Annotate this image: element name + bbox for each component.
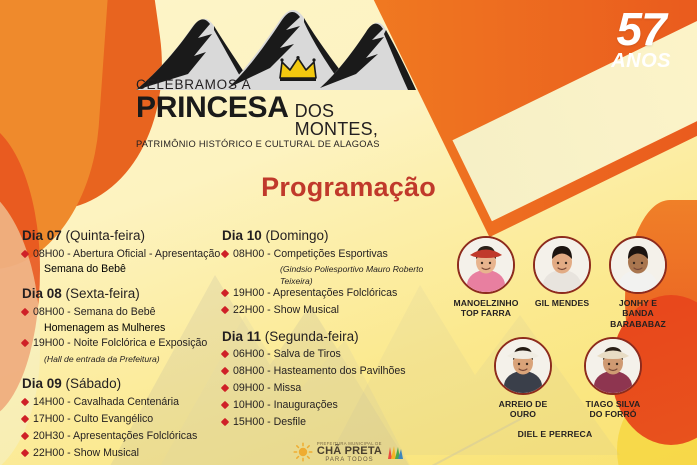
- schedule-column-1: Dia 07 (Quinta-feira)08H00 - Abertura Of…: [22, 228, 222, 465]
- day-number: Dia 07: [22, 228, 62, 243]
- artist-name: ARREIO DEOURO: [489, 399, 557, 420]
- event-time-and-title: 08H00 - Abertura Oficial - Apresentação: [33, 248, 220, 260]
- event-time-and-title: 15H00 - Desfile: [233, 416, 306, 428]
- artist-card: ARREIO DEOURO: [489, 337, 557, 420]
- day-weekday: (Segunda-feira): [261, 329, 359, 344]
- day-weekday: (Quinta-feira): [62, 228, 145, 243]
- schedule-event: 19H00 - Apresentações Folclóricas: [222, 287, 452, 301]
- bullet-diamond-icon: [21, 249, 29, 257]
- day-weekday: (Sábado): [62, 376, 121, 391]
- bullet-diamond-icon: [21, 397, 29, 405]
- schedule-event: 08H00 - Abertura Oficial - Apresentação: [22, 248, 222, 262]
- event-text: 06H00 - Salva de Tiros: [233, 348, 452, 362]
- anniversary-number: 57: [611, 8, 671, 50]
- schedule-event: 08H00 - Competições Esportivas: [222, 248, 452, 262]
- event-text: 10H00 - Inaugurações: [233, 399, 452, 413]
- schedule-event: 17H00 - Culto Evangélico: [22, 413, 222, 427]
- event-time-and-title: 20H30 - Apresentações Folclóricas: [33, 430, 197, 442]
- event-text: 14H00 - Cavalhada Centenária: [33, 396, 222, 410]
- bullet-diamond-icon: [21, 414, 29, 422]
- programacao-title: Programação: [0, 172, 697, 203]
- artist-photo: [533, 236, 591, 294]
- event-venue: (Gindsio Poliesportivo Mauro Roberto Tei…: [222, 264, 452, 286]
- poster-header: CELEBRAMOS A PRINCESA DOS MONTES, PATRIM…: [0, 0, 697, 150]
- event-poster: CELEBRAMOS A PRINCESA DOS MONTES, PATRIM…: [0, 0, 697, 465]
- bullet-diamond-icon: [221, 289, 229, 297]
- schedule-event: 08H00 - Hasteamento dos Pavilhões: [222, 365, 452, 379]
- artists-row-1: MANOELZINHOTOP FARRAGIL MENDESJONHY E BA…: [452, 236, 684, 329]
- bullet-diamond-icon: [221, 306, 229, 314]
- event-time-and-title: 08H00 - Semana do Bebê: [33, 306, 156, 318]
- colorful-fan-icon: [386, 444, 404, 460]
- day-number: Dia 11: [222, 329, 261, 344]
- day-block: Dia 07 (Quinta-feira)08H00 - Abertura Of…: [22, 228, 222, 275]
- event-text: 08H00 - Semana do Bebê: [33, 306, 222, 320]
- artist-photo: [609, 236, 667, 294]
- event-time-and-title: 08H00 - Competições Esportivas: [233, 248, 388, 260]
- event-text: 15H00 - Desfile: [233, 416, 452, 430]
- footer-city-logo: PREFEITURA MUNICIPAL DE CHÃ PRETA PARA T…: [0, 442, 697, 463]
- day-heading: Dia 11 (Segunda-feira): [222, 329, 452, 345]
- event-text: 08H00 - Hasteamento dos Pavilhões: [233, 365, 452, 379]
- event-venue: (Hall de entrada da Prefeitura): [22, 354, 222, 365]
- artist-photo: [494, 337, 552, 395]
- logo-line-celebramos: CELEBRAMOS A: [136, 78, 416, 92]
- event-text: 08H00 - Competições Esportivas: [233, 248, 452, 262]
- schedule-event: 14H00 - Cavalhada Centenária: [22, 396, 222, 410]
- event-time-and-title: 17H00 - Culto Evangélico: [33, 413, 153, 425]
- schedule-event: 09H00 - Missa: [222, 382, 452, 396]
- artists-row-2: ARREIO DEOUROTIAGO SILVADO FORRÓ: [452, 337, 684, 420]
- footer-city-name: CHÃ PRETA: [317, 446, 382, 457]
- logo-subtitle-dos-montes: DOS MONTES,: [295, 102, 416, 138]
- day-number: Dia 09: [22, 376, 62, 391]
- event-time-and-title: 10H00 - Inaugurações: [233, 399, 338, 411]
- event-text: 09H00 - Missa: [233, 382, 452, 396]
- anniversary-label: ANOS: [611, 51, 671, 71]
- artist-card: TIAGO SILVADO FORRÓ: [579, 337, 647, 420]
- day-weekday: (Domingo): [262, 228, 329, 243]
- bullet-diamond-icon: [221, 350, 229, 358]
- artist-card: MANOELZINHOTOP FARRA: [452, 236, 520, 329]
- event-continuation: Homenagem as Mulheres: [22, 322, 222, 334]
- anniversary-badge: 57 ANOS: [611, 8, 671, 71]
- day-block: Dia 08 (Sexta-feira)08H00 - Semana do Be…: [22, 286, 222, 365]
- bullet-diamond-icon: [221, 418, 229, 426]
- event-time-and-title: 08H00 - Hasteamento dos Pavilhões: [233, 365, 406, 377]
- bullet-diamond-icon: [21, 308, 29, 316]
- event-text: 17H00 - Culto Evangélico: [33, 413, 222, 427]
- event-text: 19H00 - Noite Folclórica e Exposição: [33, 337, 222, 351]
- event-time-and-title: 19H00 - Noite Folclórica e Exposição: [33, 337, 207, 349]
- artist-card: GIL MENDES: [528, 236, 596, 329]
- bullet-diamond-icon: [221, 367, 229, 375]
- bullet-diamond-icon: [221, 401, 229, 409]
- artist-card: JONHY E BANDABARABABAZ: [604, 236, 672, 329]
- sun-icon: [293, 442, 313, 462]
- day-block: Dia 10 (Domingo)08H00 - Competições Espo…: [222, 228, 452, 318]
- event-text: 08H00 - Abertura Oficial - Apresentação: [33, 248, 222, 262]
- event-continuation: Semana do Bebê: [22, 263, 222, 275]
- artist-name: JONHY E BANDABARABABAZ: [604, 298, 672, 329]
- bullet-diamond-icon: [221, 384, 229, 392]
- artist-photo: [584, 337, 642, 395]
- footer-city-tagline: PARA TODOS: [317, 457, 382, 463]
- schedule-event: 22H00 - Show Musical: [222, 304, 452, 318]
- event-text: 19H00 - Apresentações Folclóricas: [233, 287, 452, 301]
- event-time-and-title: 19H00 - Apresentações Folclóricas: [233, 287, 397, 299]
- event-time-and-title: 06H00 - Salva de Tiros: [233, 348, 341, 360]
- schedule-event: 06H00 - Salva de Tiros: [222, 348, 452, 362]
- schedule-column-2: Dia 10 (Domingo)08H00 - Competições Espo…: [222, 228, 452, 441]
- day-number: Dia 10: [222, 228, 262, 243]
- schedule-event: 15H00 - Desfile: [222, 416, 452, 430]
- artist-photo: [457, 236, 515, 294]
- day-weekday: (Sexta-feira): [62, 286, 140, 301]
- artist-name: MANOELZINHOTOP FARRA: [452, 298, 520, 319]
- event-text: 22H00 - Show Musical: [233, 304, 452, 318]
- bullet-diamond-icon: [21, 431, 29, 439]
- logo-text-block: CELEBRAMOS A PRINCESA DOS MONTES, PATRIM…: [136, 78, 416, 149]
- day-heading: Dia 07 (Quinta-feira): [22, 228, 222, 244]
- logo-title-princesa: PRINCESA: [136, 93, 289, 123]
- day-block: Dia 11 (Segunda-feira)06H00 - Salva de T…: [222, 329, 452, 430]
- event-time-and-title: 09H00 - Missa: [233, 382, 301, 394]
- artist-name: TIAGO SILVADO FORRÓ: [579, 399, 647, 420]
- day-heading: Dia 09 (Sábado): [22, 376, 222, 392]
- day-number: Dia 08: [22, 286, 62, 301]
- bullet-diamond-icon: [221, 249, 229, 257]
- day-heading: Dia 08 (Sexta-feira): [22, 286, 222, 302]
- schedule-event: 08H00 - Semana do Bebê: [22, 306, 222, 320]
- artist-name: GIL MENDES: [528, 298, 596, 308]
- artists-extra-act: DIEL E PERRECA: [452, 429, 658, 439]
- bullet-diamond-icon: [21, 339, 29, 347]
- event-logo: CELEBRAMOS A PRINCESA DOS MONTES, PATRIM…: [128, 4, 418, 144]
- schedule-event: 10H00 - Inaugurações: [222, 399, 452, 413]
- artists-lineup: MANOELZINHOTOP FARRAGIL MENDESJONHY E BA…: [452, 236, 684, 439]
- event-time-and-title: 14H00 - Cavalhada Centenária: [33, 396, 179, 408]
- schedule-event: 19H00 - Noite Folclórica e Exposição: [22, 337, 222, 351]
- logo-tagline: PATRIMÔNIO HISTÓRICO E CULTURAL DE ALAGO…: [136, 140, 416, 149]
- day-heading: Dia 10 (Domingo): [222, 228, 452, 244]
- event-time-and-title: 22H00 - Show Musical: [233, 304, 339, 316]
